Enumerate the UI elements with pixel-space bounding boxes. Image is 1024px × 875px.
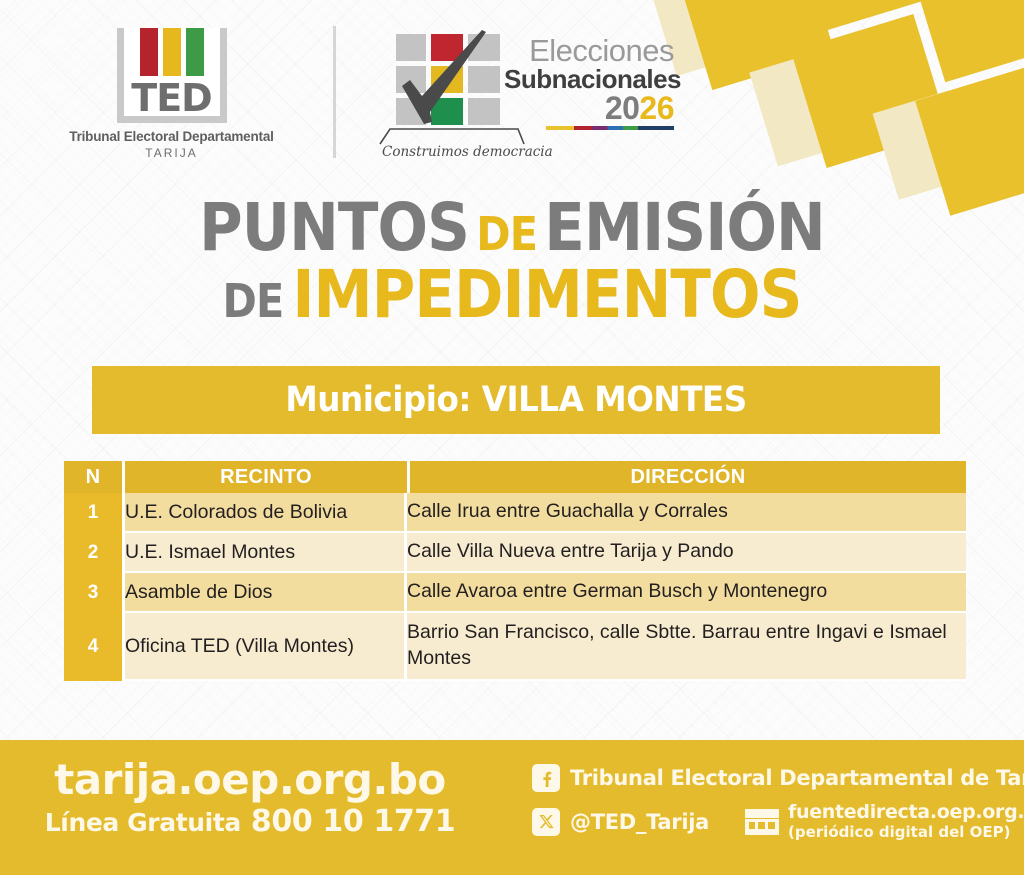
rainbow-bar: [546, 126, 674, 130]
municipality-banner: Municipio: VILLA MONTES: [92, 366, 940, 434]
elections-logo: Construimos democracia Elecciones Subnac…: [378, 34, 668, 164]
footer-hotline: Línea Gratuita 800 10 1771: [0, 804, 500, 839]
poster-root: TED Tribunal Electoral Departamental TAR…: [0, 0, 1024, 875]
column-header-number: N: [64, 461, 122, 493]
ted-logo: TED Tribunal Electoral Departamental TAR…: [64, 28, 279, 160]
polling-points-table: N RECINTO DIRECCIÓN 1 U.E. Colorados de …: [64, 461, 966, 681]
facebook-icon[interactable]: [532, 764, 560, 792]
newspaper-block[interactable]: fuentedirecta.oep.org.bo (periódico digi…: [745, 802, 1024, 841]
elections-line-1: Elecciones: [504, 36, 674, 66]
twitter-label: @TED_Tarija: [570, 810, 709, 834]
table-row: 4 Oficina TED (Villa Montes) Barrio San …: [64, 613, 966, 681]
title-word-puntos: PUNTOS: [199, 189, 469, 266]
cell-number: 3: [64, 573, 122, 613]
newspaper-text: fuentedirecta.oep.org.bo (periódico digi…: [788, 802, 1024, 841]
elections-wordmark: Elecciones Subnacionales 2026: [504, 36, 674, 130]
footer-contact: tarija.oep.org.bo Línea Gratuita 800 10 …: [0, 758, 500, 839]
footer-website[interactable]: tarija.oep.org.bo: [0, 758, 500, 802]
footer-hotline-number: 800 10 1771: [251, 804, 455, 839]
cell-direccion: Calle Villa Nueva entre Tarija y Pando: [407, 533, 966, 573]
year-prefix: 20: [605, 90, 640, 126]
table-row: 1 U.E. Colorados de Bolivia Calle Irua e…: [64, 493, 966, 533]
twitter-x-icon[interactable]: [532, 808, 560, 836]
elections-year: 2026: [504, 92, 674, 124]
page-title: PUNTOSDEEMISIÓN DEIMPEDIMENTOS: [0, 196, 1024, 327]
ted-bar-yellow-icon: [163, 28, 181, 76]
ted-acronym: TED: [117, 79, 227, 117]
title-word-de-1: DE: [476, 207, 537, 261]
page-title-line-2: DEIMPEDIMENTOS: [51, 263, 973, 326]
social-second-row: @TED_Tarija fuentedirecta.oep.org.bo (pe…: [532, 802, 1024, 841]
checkmark-icon: [386, 30, 496, 135]
municipality-value: VILLA MONTES: [482, 380, 747, 420]
municipality-label: Municipio:: [285, 380, 471, 420]
column-header-recinto: RECINTO: [122, 461, 407, 493]
header: TED Tribunal Electoral Departamental TAR…: [0, 0, 1024, 185]
cell-recinto: U.E. Colorados de Bolivia: [122, 493, 407, 533]
footer-hotline-label: Línea Gratuita: [45, 808, 241, 837]
ted-bar-red-icon: [140, 28, 158, 76]
table-row: 2 U.E. Ismael Montes Calle Villa Nueva e…: [64, 533, 966, 573]
page-title-line-1: PUNTOSDEEMISIÓN: [51, 196, 973, 259]
title-word-impedimentos: IMPEDIMENTOS: [292, 256, 801, 333]
cell-direccion: Calle Irua entre Guachalla y Corrales: [407, 493, 966, 533]
ted-logo-subtitle: Tribunal Electoral Departamental: [64, 129, 279, 144]
title-word-emision: EMISIÓN: [544, 189, 825, 266]
facebook-label: Tribunal Electoral Departamental de Tari…: [570, 766, 1024, 790]
newspaper-url: fuentedirecta.oep.org.bo: [788, 801, 1024, 823]
newspaper-subtitle: (periódico digital del OEP): [788, 823, 1010, 841]
title-word-de-2: DE: [223, 274, 284, 328]
cell-recinto: Asamble de Dios: [122, 573, 407, 613]
footer: tarija.oep.org.bo Línea Gratuita 800 10 …: [0, 740, 1024, 875]
newspaper-icon: [745, 809, 779, 835]
cell-recinto: Oficina TED (Villa Montes): [122, 613, 407, 681]
year-suffix: 26: [639, 90, 674, 126]
elections-line-2: Subnacionales: [504, 66, 674, 92]
cell-number: 1: [64, 493, 122, 533]
table-head: N RECINTO DIRECCIÓN: [64, 461, 966, 493]
ted-logo-mark: TED: [117, 28, 227, 123]
ted-logo-region: TARIJA: [64, 146, 279, 160]
table-row: 3 Asamble de Dios Calle Avaroa entre Ger…: [64, 573, 966, 613]
cell-direccion: Barrio San Francisco, calle Sbtte. Barra…: [407, 613, 966, 681]
ted-bar-green-icon: [186, 28, 204, 76]
table-body: 1 U.E. Colorados de Bolivia Calle Irua e…: [64, 493, 966, 681]
cell-number: 4: [64, 613, 122, 681]
table-header-row: N RECINTO DIRECCIÓN: [64, 461, 966, 493]
facebook-row[interactable]: Tribunal Electoral Departamental de Tari…: [532, 764, 1024, 792]
column-header-direccion: DIRECCIÓN: [407, 461, 966, 493]
cell-number: 2: [64, 533, 122, 573]
cell-recinto: U.E. Ismael Montes: [122, 533, 407, 573]
footer-social: Tribunal Electoral Departamental de Tari…: [532, 764, 1024, 851]
header-divider: [333, 26, 336, 158]
cell-direccion: Calle Avaroa entre German Busch y Monten…: [407, 573, 966, 613]
elections-slogan: Construimos democracia: [382, 144, 553, 160]
municipality-banner-text: Municipio: VILLA MONTES: [285, 380, 746, 420]
